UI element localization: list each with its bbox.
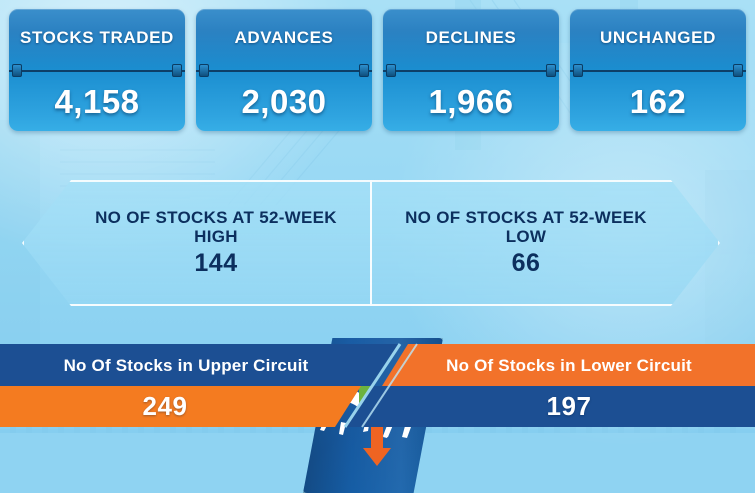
stat-card-stocks-traded: STOCKS TRADED 4,158 <box>9 9 185 131</box>
stat-card-title: STOCKS TRADED <box>20 29 174 47</box>
hinge-line <box>383 70 559 72</box>
lower-circuit-label-bold: Lower Circuit <box>581 356 692 376</box>
card-value-area: 162 <box>570 73 746 131</box>
banner-52-week-high: NO OF STOCKS AT 52-WEEK HIGH 144 <box>22 180 372 306</box>
banner-title: NO OF STOCKS AT 52-WEEK LOW <box>386 208 666 246</box>
card-title-area: ADVANCES <box>196 9 372 68</box>
lower-circuit-label: No Of Stocks in Lower Circuit <box>383 345 755 386</box>
card-title-area: UNCHANGED <box>570 9 746 68</box>
banner-value: 66 <box>512 249 541 278</box>
lower-circuit-label-lead: No Of Stocks in <box>446 356 576 376</box>
circuit-bars-section: No Of Stocks in Upper Circuit No Of Stoc… <box>0 342 755 433</box>
card-value-area: 1,966 <box>383 73 559 131</box>
card-title-area: STOCKS TRADED <box>9 9 185 68</box>
stat-card-declines: DECLINES 1,966 <box>383 9 559 131</box>
banner-content: NO OF STOCKS AT 52-WEEK LOW 66 <box>372 182 718 304</box>
banner-title: NO OF STOCKS AT 52-WEEK HIGH <box>76 208 356 246</box>
lower-circuit-value: 197 <box>383 386 755 426</box>
stat-card-title: ADVANCES <box>235 29 334 47</box>
stat-card-unchanged: UNCHANGED 162 <box>570 9 746 131</box>
hinge-line <box>570 70 746 72</box>
card-value-area: 2,030 <box>196 73 372 131</box>
stat-card-title: DECLINES <box>426 29 517 47</box>
stat-card-advances: ADVANCES 2,030 <box>196 9 372 131</box>
upper-circuit-value: 249 <box>0 386 330 426</box>
upper-circuit-label: No Of Stocks in Upper Circuit <box>0 345 372 386</box>
card-title-area: DECLINES <box>383 9 559 68</box>
card-value-area: 4,158 <box>9 73 185 131</box>
stat-card-value: 4,158 <box>54 83 139 121</box>
stat-card-row: STOCKS TRADED 4,158 ADVANCES 2,030 DECLI… <box>0 9 755 131</box>
stat-card-value: 1,966 <box>428 83 513 121</box>
week-range-section: NO OF STOCKS AT 52-WEEK HIGH 144 NO OF S… <box>0 168 755 318</box>
hinge-line <box>196 70 372 72</box>
banner-content: NO OF STOCKS AT 52-WEEK HIGH 144 <box>24 182 370 304</box>
stat-card-value: 2,030 <box>241 83 326 121</box>
banner-value: 144 <box>194 249 237 278</box>
upper-circuit-label-bold: Upper Circuit <box>198 356 308 376</box>
upper-circuit-label-lead: No Of Stocks in <box>64 356 194 376</box>
stat-card-value: 162 <box>630 83 687 121</box>
stat-card-title: UNCHANGED <box>600 29 716 47</box>
hinge-line <box>9 70 185 72</box>
banner-52-week-low: NO OF STOCKS AT 52-WEEK LOW 66 <box>370 180 720 306</box>
